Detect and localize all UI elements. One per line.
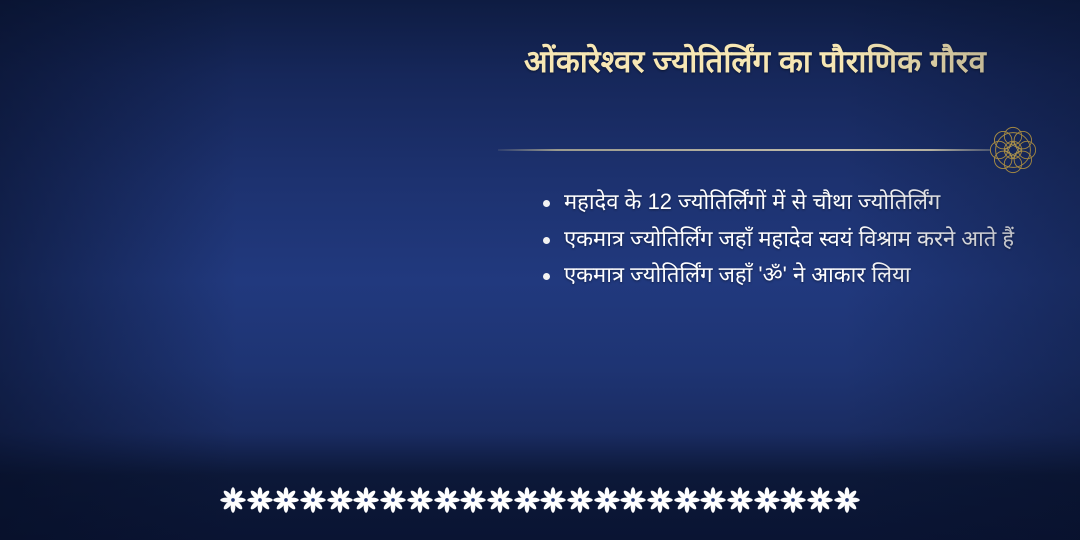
flower-icon (567, 487, 593, 513)
courtyard (171, 382, 474, 449)
flower-icon (247, 487, 273, 513)
flower-icon (434, 487, 460, 513)
flower-icon (780, 487, 806, 513)
flower-icon (407, 487, 433, 513)
list-item: महादेव के 12 ज्योतिर्लिंगों में से चौथा … (538, 186, 1068, 219)
slide-root: ओंकारेश्वर ज्योतिर्लिंग का पौराणिक गौरव (0, 0, 1080, 540)
photo-frame (0, 23, 480, 455)
flower-icon (727, 487, 753, 513)
flower-icon (380, 487, 406, 513)
temple-flag (103, 117, 105, 172)
flower-icon (700, 487, 726, 513)
bullet-list: महादेव के 12 ज्योतिर्लिंगों में से चौथा … (538, 186, 1068, 296)
flower-icon (754, 487, 780, 513)
page-title: ओंकारेश्वर ज्योतिर्लिंग का पौराणिक गौरव (524, 42, 1032, 83)
flower-icon (220, 487, 246, 513)
temple-spire (140, 117, 143, 155)
flower-row (220, 487, 860, 513)
flower-icon (514, 487, 540, 513)
flower-icon (273, 487, 299, 513)
flower-icon (834, 487, 860, 513)
list-item: एकमात्र ज्योतिर्लिंग जहाँ महादेव स्वयं व… (538, 223, 1068, 256)
temple-flag (81, 138, 83, 180)
flower-icon (300, 487, 326, 513)
content-column: ओंकारेश्वर ज्योतिर्लिंग का पौराणिक गौरव (498, 0, 1080, 540)
flower-icon (647, 487, 673, 513)
flower-icon (540, 487, 566, 513)
mandala-rosette-ornament (984, 121, 1042, 179)
flower-icon (594, 487, 620, 513)
flower-icon (487, 487, 513, 513)
temple-photo (0, 29, 474, 449)
list-item: एकमात्र ज्योतिर्लिंग जहाँ 'ॐ' ने आकार लि… (538, 259, 1068, 292)
stone-pillar (228, 197, 240, 256)
flower-icon (353, 487, 379, 513)
horizontal-divider (498, 149, 990, 151)
stone-pillar (206, 189, 218, 256)
flower-icon (460, 487, 486, 513)
foliage (0, 273, 103, 416)
flower-icon (674, 487, 700, 513)
flower-border (0, 460, 1080, 540)
flower-icon (807, 487, 833, 513)
flower-icon (327, 487, 353, 513)
flower-icon (620, 487, 646, 513)
